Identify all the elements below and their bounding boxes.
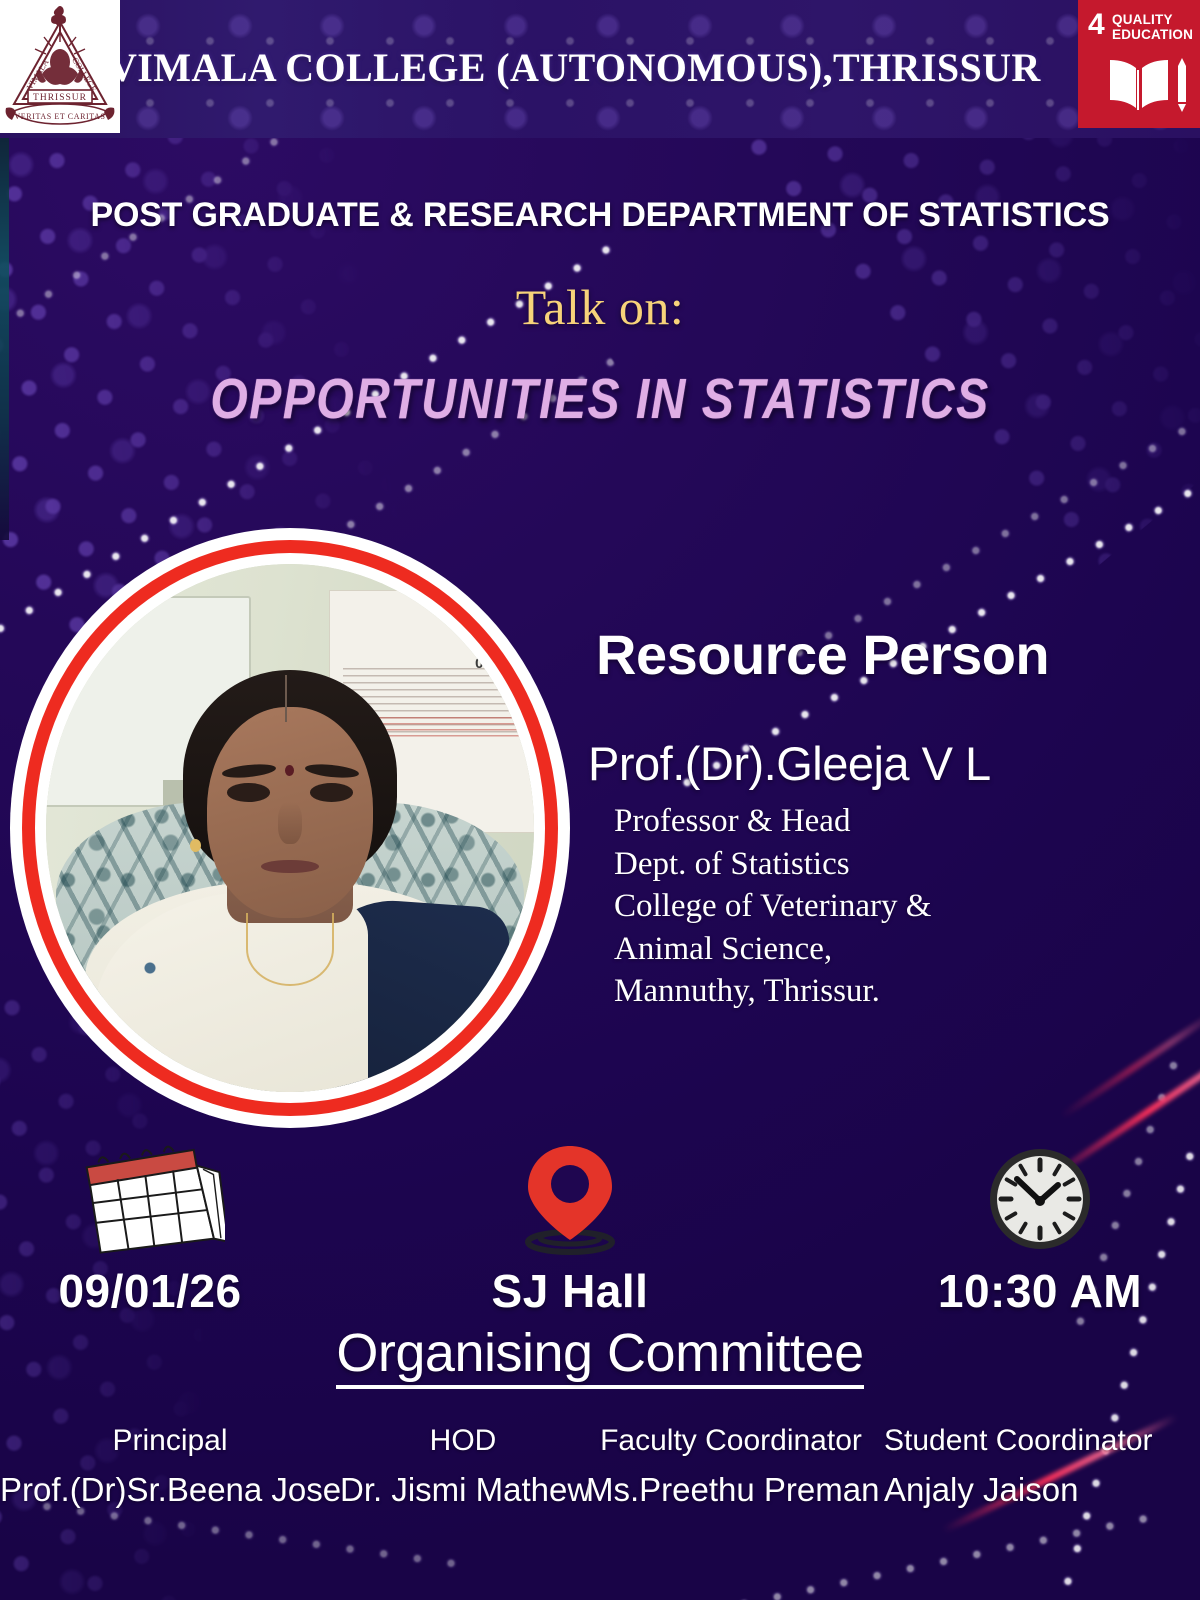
photo-earring xyxy=(190,839,201,852)
resource-person-affiliation: Professor & Head Dept. of Statistics Col… xyxy=(614,800,1154,1013)
photo-calendar-numbers: 1622 2329 30 xyxy=(475,608,534,651)
sdg-label-line2: EDUCATION xyxy=(1112,27,1193,42)
affiliation-line: Mannuthy, Thrissur. xyxy=(614,970,1154,1013)
event-info-row: 09/01/26 SJ Hall xyxy=(0,1140,1200,1330)
organising-committee-list: Principal Prof.(Dr)Sr.Beena Jose HOD Dr.… xyxy=(0,1424,1200,1554)
affiliation-line: College of Veterinary & xyxy=(614,885,1154,928)
event-venue-block: SJ Hall xyxy=(450,1140,690,1318)
calendar-icon xyxy=(75,1143,225,1255)
resource-person-heading: Resource Person xyxy=(596,622,1156,687)
map-pin-icon xyxy=(510,1140,630,1258)
map-pin-icon-wrap xyxy=(450,1140,690,1258)
poster-header: THRISSUR VERITAS ET CARITAS VIMALA COLLE… xyxy=(0,0,1200,138)
college-crest-icon: THRISSUR VERITAS ET CARITAS VIMALA COLLE… xyxy=(4,4,116,130)
event-time-value: 10:30 AM xyxy=(900,1264,1180,1318)
portrait-image: 1622 2329 30 xyxy=(46,564,534,1092)
sdg-quality-education-badge: 4 QUALITY EDUCATION xyxy=(1078,0,1200,128)
committee-role: Principal xyxy=(0,1424,340,1459)
talk-title: OPPORTUNITIES IN STATISTICS xyxy=(0,367,1200,432)
committee-name: Anjaly Jaison xyxy=(884,1471,1200,1509)
event-time-block: 10:30 AM xyxy=(900,1140,1180,1318)
talk-prefix: Talk on: xyxy=(0,278,1200,336)
event-date-block: 09/01/26 xyxy=(20,1140,280,1318)
photo-gold-chain xyxy=(246,913,334,987)
committee-member: Faculty Coordinator Ms.Preethu Preman xyxy=(586,1424,876,1508)
clock-icon xyxy=(984,1143,1096,1255)
organising-committee-heading: Organising Committee xyxy=(0,1322,1200,1384)
sdg-number: 4 xyxy=(1088,10,1105,40)
event-date-value: 09/01/26 xyxy=(20,1264,280,1318)
college-name-title: VIMALA COLLEGE (AUTONOMOUS),THRISSUR xyxy=(108,44,1058,91)
department-title: POST GRADUATE & RESEARCH DEPARTMENT OF S… xyxy=(0,196,1200,235)
committee-member: Principal Prof.(Dr)Sr.Beena Jose xyxy=(0,1424,340,1508)
committee-name: Ms.Preethu Preman xyxy=(586,1471,876,1509)
committee-member: HOD Dr. Jismi Mathew xyxy=(340,1424,586,1508)
committee-member: Student Coordinator Anjaly Jaison xyxy=(876,1424,1200,1508)
event-venue-value: SJ Hall xyxy=(450,1264,690,1318)
committee-role: Student Coordinator xyxy=(884,1424,1200,1459)
photo-hair-parting xyxy=(285,675,287,723)
photo-white-ring: 1622 2329 30 xyxy=(35,553,545,1103)
calendar-icon-wrap xyxy=(20,1140,280,1258)
affiliation-line: Professor & Head xyxy=(614,800,1154,843)
committee-name: Prof.(Dr)Sr.Beena Jose xyxy=(0,1471,340,1509)
event-poster: THRISSUR VERITAS ET CARITAS VIMALA COLLE… xyxy=(0,0,1200,1600)
resource-person-photo: 1622 2329 30 xyxy=(10,528,570,1128)
photo-red-ring: 1622 2329 30 xyxy=(22,540,558,1116)
photo-nose xyxy=(278,802,302,844)
affiliation-line: Animal Science, xyxy=(614,928,1154,971)
organising-committee-heading-text: Organising Committee xyxy=(336,1323,863,1389)
committee-role: Faculty Coordinator xyxy=(586,1424,876,1459)
svg-text:THRISSUR: THRISSUR xyxy=(33,93,87,103)
sdg-label-line1: QUALITY xyxy=(1112,12,1193,27)
affiliation-line: Dept. of Statistics xyxy=(614,843,1154,886)
college-logo: THRISSUR VERITAS ET CARITAS VIMALA COLLE… xyxy=(0,0,120,133)
committee-role: HOD xyxy=(340,1424,586,1459)
sdg-label: QUALITY EDUCATION xyxy=(1112,12,1193,43)
photo-bindi xyxy=(285,765,294,776)
open-book-and-pencil-icon xyxy=(1106,52,1192,114)
svg-text:VERITAS ET CARITAS: VERITAS ET CARITAS xyxy=(14,112,105,121)
resource-person-name: Prof.(Dr).Gleeja V L xyxy=(588,736,1188,791)
committee-name: Dr. Jismi Mathew xyxy=(340,1471,586,1509)
clock-icon-wrap xyxy=(900,1140,1180,1258)
